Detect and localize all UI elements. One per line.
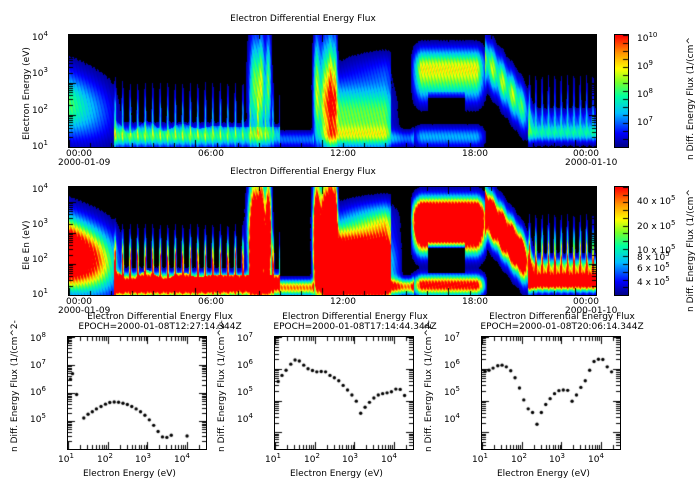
spectrum2-xtick-4: 104 (381, 452, 397, 465)
spectrum2-ytick-7: 107 (237, 331, 253, 344)
panel2-colorbar (614, 186, 629, 296)
panel1-colorbar (614, 34, 629, 148)
panel1-ytick-2: 102 (32, 103, 48, 116)
spectrum2-ylabel: n Diff. Energy Flux (1/(cm^2- (217, 320, 227, 452)
spectrum1-ytick-5: 105 (30, 412, 46, 425)
spectrum1-ylabel: n Diff. Energy Flux (1/(cm^2- (10, 320, 20, 452)
axis-ticks (69, 187, 596, 295)
panel2-ytick-2: 102 (32, 252, 48, 265)
spectrum3-ytick-5: 105 (444, 385, 460, 398)
spectrum3-ytick-6: 106 (444, 358, 460, 371)
spectrum1-canvas (68, 337, 206, 449)
panel1-cbtick-8: 108 (637, 87, 653, 100)
panel2-xtick-2: 12:00 (330, 297, 356, 307)
spectrum3-title: Electron Differential Energy Flux (462, 312, 662, 322)
panel1-cbtick-10: 1010 (637, 31, 657, 44)
spectrum2-xtick-3: 103 (342, 452, 358, 465)
spectrum2-xtick-2: 102 (304, 452, 320, 465)
panel1-ytick-4: 104 (32, 30, 48, 43)
spectrum1-xtick-4: 104 (174, 452, 190, 465)
spectrum3-canvas (482, 337, 620, 449)
spectrum3-xtick-4: 104 (588, 452, 604, 465)
colorbar-ticks (615, 35, 629, 147)
spectrum1-xlabel: Electron Energy (eV) (83, 469, 176, 479)
spectrum2-xlabel: Electron Energy (eV) (290, 469, 383, 479)
panel2-ytick-3: 103 (32, 217, 48, 230)
spectrum3-xtick-1: 101 (472, 452, 488, 465)
spectrum2-ytick-6: 106 (237, 358, 253, 371)
panel1-plot-area (68, 34, 597, 148)
spectrum1-xtick-2: 102 (97, 452, 113, 465)
panel2-cbtick-20: 20 x 105 (637, 219, 675, 232)
panel2-xtick-3: 18:00 (462, 297, 488, 307)
spectrum2-ytick-4: 104 (237, 412, 253, 425)
panel1-cbtick-7: 107 (637, 115, 653, 128)
panel2-title: Electron Differential Energy Flux (68, 167, 538, 177)
spectrum3-xlabel: Electron Energy (eV) (497, 469, 590, 479)
panel2-cbtick-6: 6 x 105 (637, 261, 670, 274)
panel1-xtick-2: 12:00 (330, 149, 356, 159)
panel2-xtick-1: 06:00 (198, 297, 224, 307)
panel2-colorbar-label: n Diff. Energy Flux (1/(cm^ (686, 189, 696, 312)
panel1-ytick-3: 103 (32, 66, 48, 79)
panel1-ytick-1: 101 (32, 139, 48, 152)
panel1-colorbar-label: n Diff. Energy Flux (1/(cm^ (686, 37, 696, 160)
spectrum3-xtick-2: 102 (511, 452, 527, 465)
spectrum2-plot-area (274, 336, 414, 450)
axis-ticks (69, 35, 596, 147)
panel2-ytick-4: 104 (32, 182, 48, 195)
spectrum3-ytick-4: 104 (444, 412, 460, 425)
panel2-plot-area (68, 186, 597, 296)
panel2-cbtick-40: 40 x 105 (637, 194, 675, 207)
spectrum2-ytick-5: 105 (237, 385, 253, 398)
spectrum1-ytick-6: 106 (30, 385, 46, 398)
panel1-xtick-3: 18:00 (462, 149, 488, 159)
spectrum1-ytick-8: 108 (30, 331, 46, 344)
panel1-xdate-right: 2000-01-10 (565, 158, 617, 168)
spectrum3-ylabel: n Diff. Energy Flux (1/(cm^2- (424, 320, 434, 452)
spectrum3-xtick-3: 103 (549, 452, 565, 465)
spectrum3-plot-area (481, 336, 621, 450)
spectrum1-ytick-7: 107 (30, 358, 46, 371)
panel2-ytick-1: 101 (32, 287, 48, 300)
panel2-ylabel: Ele En (eV) (22, 220, 32, 270)
spectrum1-subtitle: EPOCH=2000-01-08T12:27:14.344Z (60, 322, 260, 332)
panel1-cbtick-9: 109 (637, 59, 653, 72)
spectrum2-canvas (275, 337, 413, 449)
panel1-ylabel: Electron Energy (eV) (22, 47, 32, 140)
panel2-cbtick-4: 4 x 105 (637, 275, 670, 288)
spectrum1-xtick-3: 103 (135, 452, 151, 465)
spectrum1-xtick-1: 101 (58, 452, 74, 465)
panel1-xtick-1: 06:00 (198, 149, 224, 159)
spectrum1-title: Electron Differential Energy Flux (60, 312, 260, 322)
spectrum3-ytick-7: 107 (444, 331, 460, 344)
spectrum3-subtitle: EPOCH=2000-01-08T20:06:14.344Z (462, 322, 662, 332)
colorbar-ticks (615, 187, 629, 295)
spectrum1-plot-area (67, 336, 207, 450)
spectrum2-xtick-1: 101 (265, 452, 281, 465)
panel1-title: Electron Differential Energy Flux (68, 14, 538, 24)
